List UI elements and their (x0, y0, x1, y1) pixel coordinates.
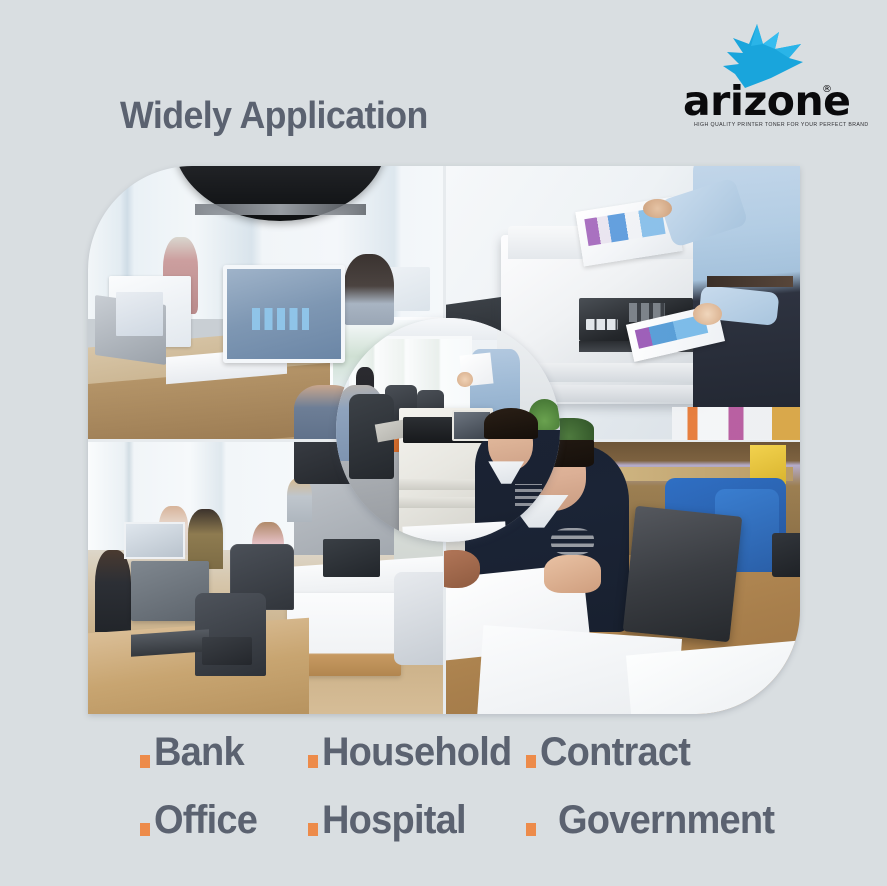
bullet-icon (526, 823, 536, 836)
application-item-office: Office (140, 794, 308, 846)
application-row-1: Bank Household Contract (140, 726, 800, 794)
application-label: Contract (540, 726, 690, 778)
application-label: Hospital (322, 794, 466, 846)
bullet-icon (308, 823, 318, 836)
bullet-icon (308, 755, 318, 768)
application-row-2: Office Hospital Government (140, 794, 800, 862)
application-item-government: Government (526, 794, 786, 846)
application-list: Bank Household Contract Office Hospital (140, 726, 800, 862)
poster-canvas: arizone ® HIGH QUALITY PRINTER TONER FOR… (0, 0, 887, 886)
application-item-household: Household (308, 726, 526, 778)
bullet-icon (140, 755, 150, 768)
application-item-hospital: Hospital (308, 794, 526, 846)
bullet-icon (140, 823, 150, 836)
brand-tagline: HIGH QUALITY PRINTER TONER FOR YOUR PERF… (694, 122, 844, 128)
application-label: Government (558, 794, 774, 846)
application-label: Office (154, 794, 257, 846)
copier-meeting-room-photo (336, 318, 560, 542)
application-label: Bank (154, 726, 244, 778)
application-label: Household (322, 726, 511, 778)
application-item-contract: Contract (526, 726, 698, 778)
application-item-bank: Bank (140, 726, 308, 778)
brand-logo: arizone ® HIGH QUALITY PRINTER TONER FOR… (683, 22, 843, 137)
brand-wordmark: arizone (683, 80, 843, 122)
bullet-icon (526, 755, 536, 768)
page-title: Widely Application (120, 95, 428, 138)
registered-mark-icon: ® (822, 84, 832, 95)
